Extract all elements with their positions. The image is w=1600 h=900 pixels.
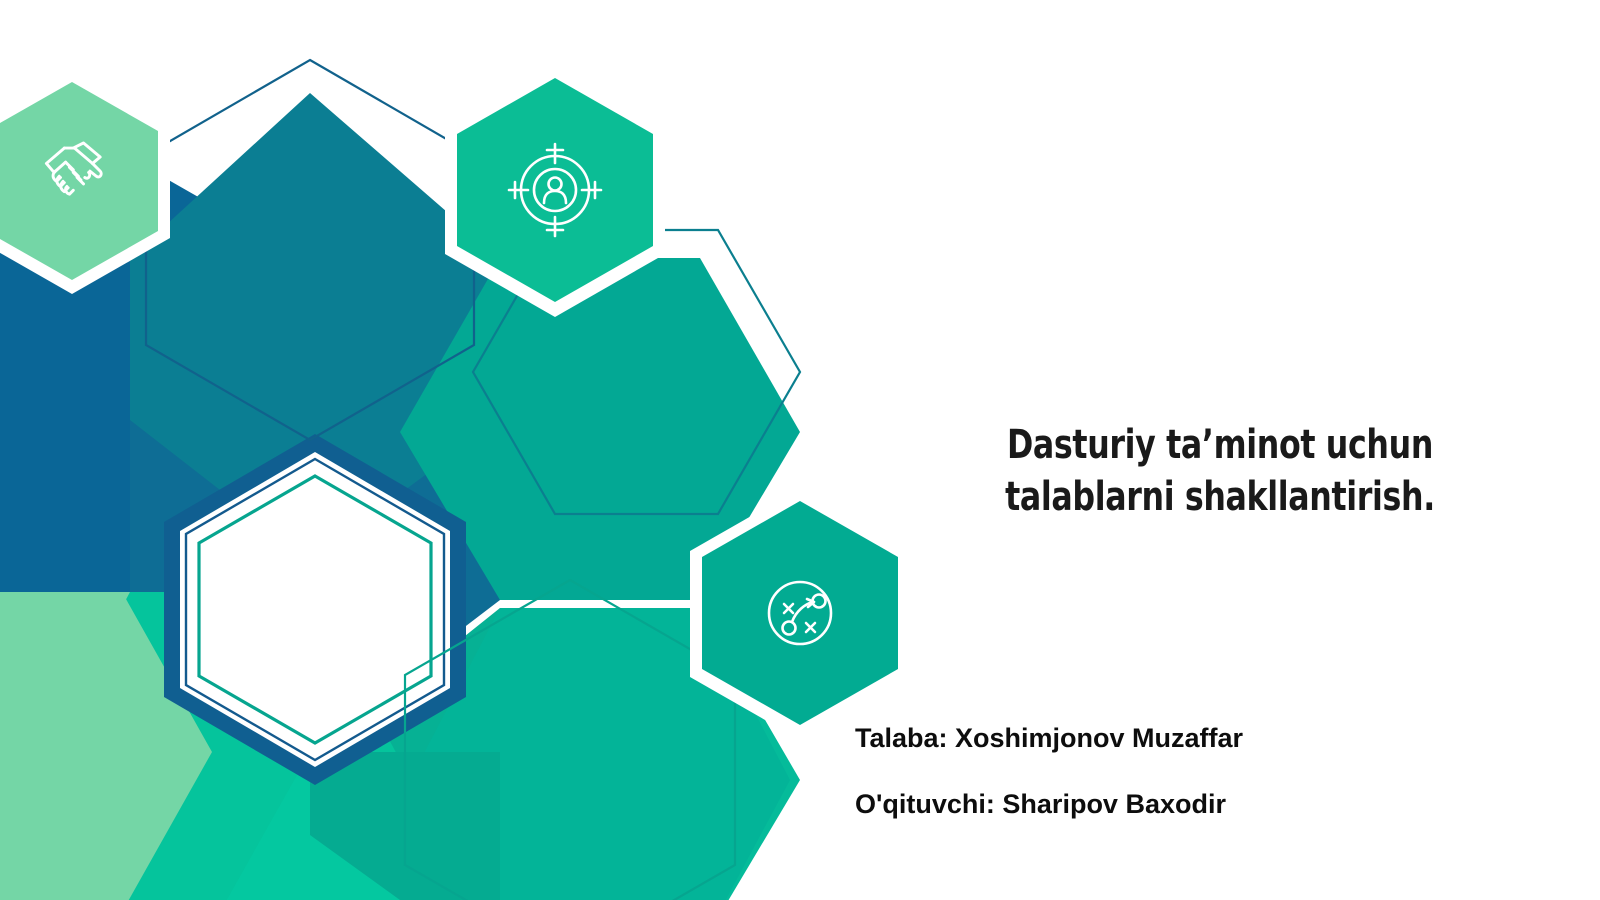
presentation-slide: Dasturiy ta’minot uchun talablarni shakl…: [0, 0, 1600, 900]
page-title: Dasturiy ta’minot uchun talablarni shakl…: [938, 419, 1501, 523]
student-credit: Talaba: Xoshimjonov Muzaffar: [855, 723, 1243, 754]
title-line-1: Dasturiy ta’minot uchun: [938, 419, 1501, 471]
title-line-2: talablarni shakllantirish.: [938, 471, 1501, 523]
teacher-credit: O'qituvchi: Sharipov Baxodir: [855, 789, 1226, 820]
text-column: Dasturiy ta’minot uchun talablarni shakl…: [840, 0, 1600, 900]
